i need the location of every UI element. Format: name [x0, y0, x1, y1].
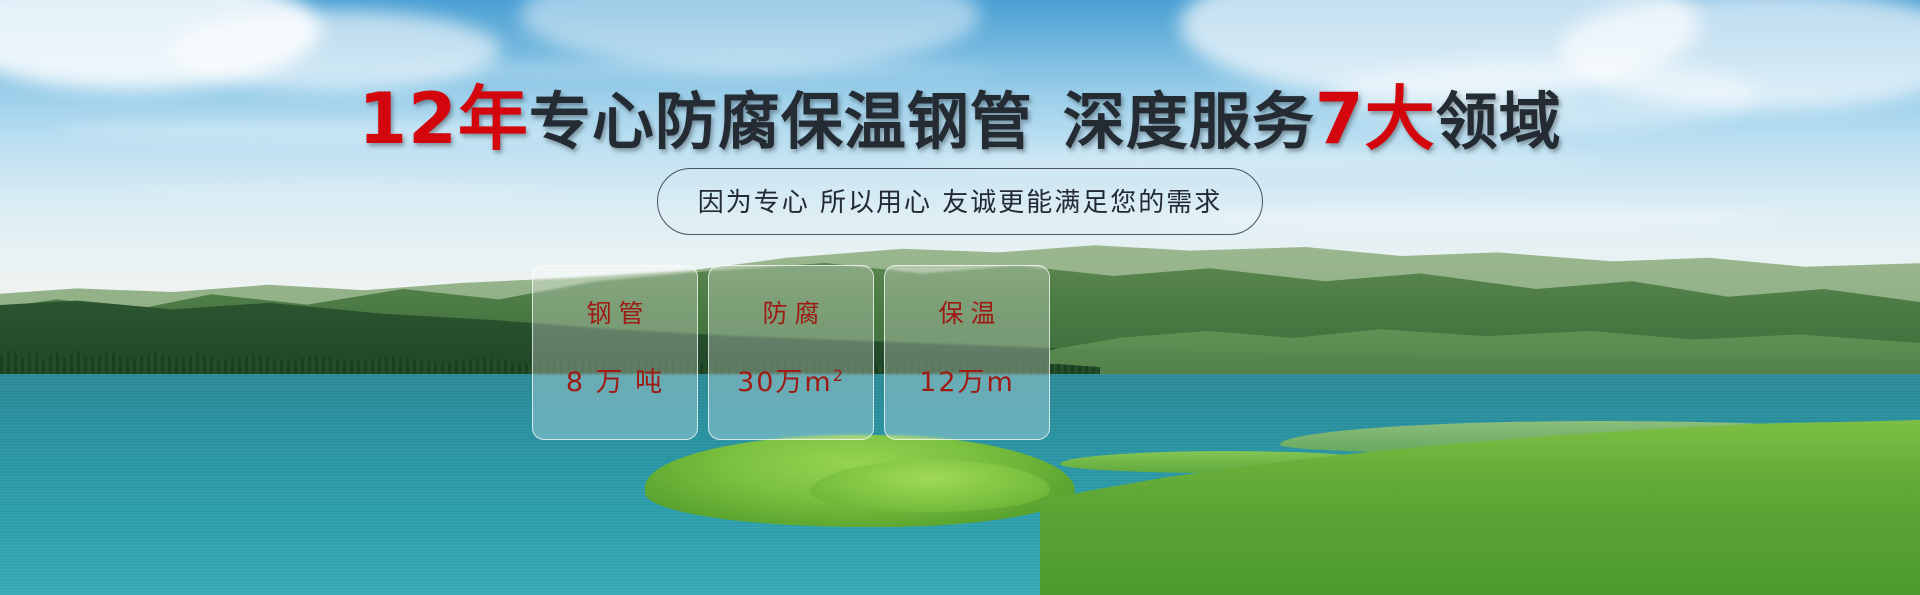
stats-card-group: 钢管 8 万 吨 防腐 30万m2 保温 12万m — [532, 265, 1050, 440]
headline-main-text: 专心防腐保温钢管 — [529, 85, 1033, 158]
stat-card-label: 钢管 — [579, 294, 650, 330]
stat-card-value: 8 万 吨 — [566, 360, 664, 399]
stat-card-steel-pipe[interactable]: 钢管 8 万 吨 — [532, 265, 698, 440]
stat-card-label: 保温 — [931, 294, 1002, 330]
headline-fields-text: 领域 — [1436, 85, 1562, 158]
stat-card-insulation[interactable]: 保温 12万m — [884, 265, 1050, 440]
subtitle-pill: 因为专心 所以用心 友诚更能满足您的需求 — [657, 168, 1264, 235]
cloud-wisp — [380, 60, 1000, 78]
headline-fields-number: 7大 — [1315, 78, 1436, 160]
stat-value-text: 12万m — [919, 367, 1015, 398]
stat-value-text: 8 万 吨 — [566, 367, 664, 398]
hero-banner: 12年专心防腐保温钢管深度服务7大领域 因为专心 所以用心 友诚更能满足您的需求… — [0, 0, 1920, 595]
subtitle-container: 因为专心 所以用心 友诚更能满足您的需求 — [0, 168, 1920, 235]
stat-card-anticorrosion[interactable]: 防腐 30万m2 — [708, 265, 874, 440]
headline-service-text: 深度服务 — [1063, 85, 1315, 158]
stat-value-text: 30万m — [737, 367, 833, 398]
stat-card-value: 30万m2 — [737, 360, 845, 399]
page-title: 12年专心防腐保温钢管深度服务7大领域 — [0, 84, 1920, 154]
stat-value-superscript: 2 — [833, 366, 845, 385]
stat-card-label: 防腐 — [755, 294, 826, 330]
headline-years-number: 12年 — [358, 78, 528, 160]
stat-card-value: 12万m — [919, 360, 1015, 399]
